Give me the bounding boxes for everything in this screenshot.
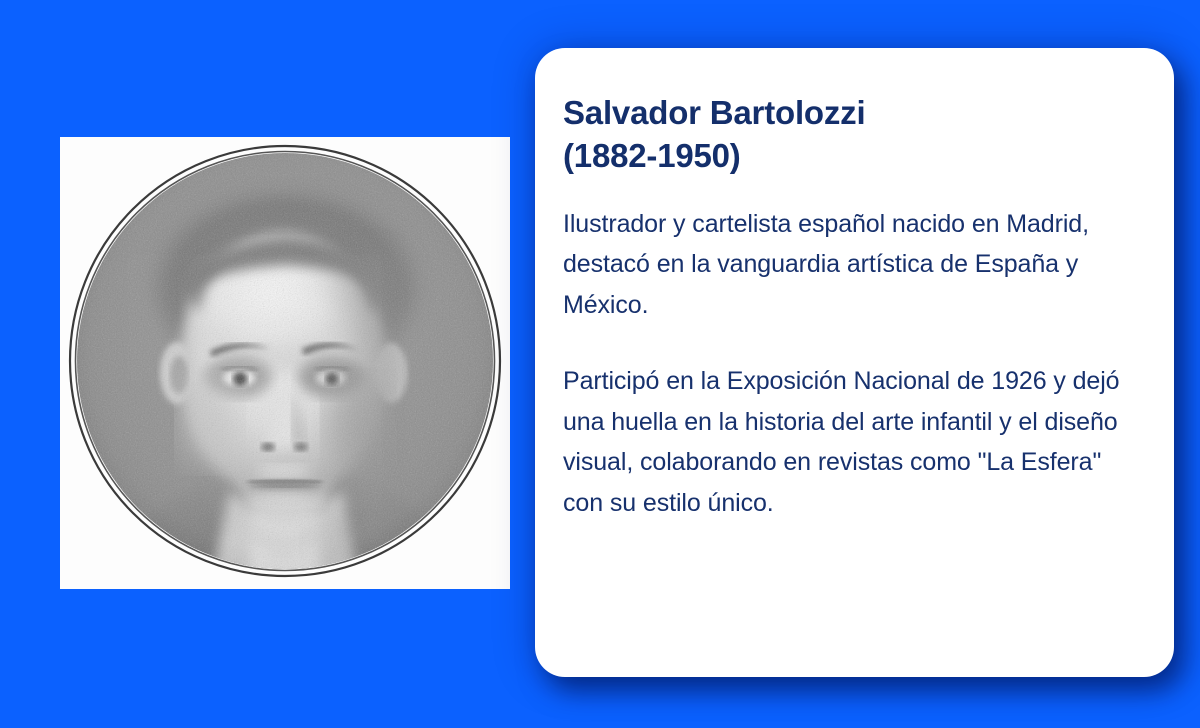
biography-paragraph-1: Ilustrador y cartelista español nacido e…	[563, 204, 1136, 326]
portrait-photo-panel	[60, 137, 510, 589]
portrait-photo-frame	[60, 137, 510, 589]
portrait-photo-image	[60, 137, 510, 589]
biography-paragraph-2: Participó en la Exposición Nacional de 1…	[563, 361, 1136, 523]
page-title: Salvador Bartolozzi (1882-1950)	[563, 92, 1136, 178]
artist-info-card: Salvador Bartolozzi (1882-1950) Ilustrad…	[535, 48, 1174, 677]
